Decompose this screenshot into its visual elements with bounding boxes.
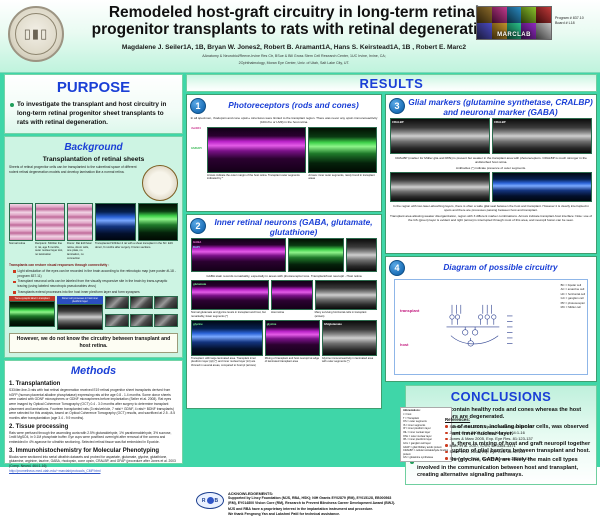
- panel-2-caption-2: Normal glutamate and glycine levels in t…: [191, 311, 269, 318]
- micrograph-transplant-green-right: [138, 203, 179, 241]
- methods-protocol-link[interactable]: http://prometheus.med.utah.edu/~marclab/…: [9, 469, 178, 474]
- panel-3-caption-2: Antibodies (*) indicate presence of oute…: [389, 166, 593, 170]
- program-info: Program # 837.10 Board # L18: [555, 16, 597, 27]
- background-figure-row-1: Normal retina Recipient: S334ter line 3,…: [9, 203, 178, 260]
- methods-1-body: S334ter-line-3 rats with fast retinal de…: [9, 388, 178, 421]
- panel-number-4: 4: [389, 260, 405, 276]
- fig-tag-dapi: DAPI: [193, 245, 200, 249]
- micrograph-rhodopsin-transplant: [207, 127, 306, 173]
- rpb-logo-icon: RB: [196, 492, 224, 509]
- connectivity-bullet-3: Transplants extend processes into the ho…: [18, 290, 140, 295]
- methods-3-heading: 3. Immunohistochemistry for Molecular Ph…: [9, 448, 178, 454]
- methods-section: Methods 1. Transplantation S334ter-line-…: [4, 360, 183, 464]
- fig-tag-gaba: GABA: [193, 240, 201, 244]
- micrograph-donor-processes: [57, 304, 103, 330]
- panel-number-3: 3: [389, 98, 405, 114]
- results-panel-3: 3 Glial markers (glutamine synthetase, C…: [385, 94, 597, 254]
- panel-2-caption-6: Mixing of transplant and host neuropil a…: [265, 357, 320, 364]
- title-line-1: Remodeled host-graft circuitry in long-t…: [72, 4, 516, 21]
- panel-2-caption-7: Glycine immunoreactivity in laminated ar…: [322, 357, 377, 364]
- micrograph-glutamate-1: [288, 238, 344, 272]
- background-heading: Background: [9, 142, 178, 153]
- micrograph-gaba-dapi: GABA DAPI: [191, 238, 286, 272]
- em-micrograph-6: [154, 314, 178, 327]
- page-title: Remodeled host-graft circuitry in long-t…: [72, 4, 516, 39]
- connectivity-bullet-1: Light stimulation of the eyes can be rec…: [18, 269, 179, 278]
- acknowledgements-line-1: Supported by Lincy Foundation (MJS, RBA,…: [228, 496, 396, 507]
- circuitry-svg: [441, 282, 551, 374]
- panel-2-caption-5: Transplant: with large laminated area. T…: [191, 357, 263, 368]
- panel-2-title: Inner retinal neurons (GABA, glutamate, …: [208, 217, 379, 237]
- marclab-logo: MARCLAB: [476, 6, 552, 40]
- fig-tag-glycine-1: glycine: [193, 322, 203, 326]
- background-intro: Sheets of retinal progenitor cells can b…: [9, 165, 139, 174]
- abbrev-item-12: GS = glutamine synthetase: [403, 456, 449, 460]
- diagram-label-transplant: transplant: [400, 308, 419, 313]
- panel-2-caption-1: GABA stain records remarkably, especiall…: [190, 274, 378, 278]
- fig-tag-cralbp-1: CRALBP: [392, 120, 404, 124]
- panel-1-caption-left: Arrows indicate the outer margin of the …: [207, 174, 306, 181]
- fig-tag-gs-glutamate: GS/glutamate: [324, 322, 342, 326]
- acknowledgements-section: RB ACKNOWLEDGEMENTS: Supported by Lincy …: [196, 492, 396, 517]
- legend-item-mc: MC = Müller cell: [561, 305, 585, 309]
- panel-2-caption-3: Host retina: [271, 311, 313, 315]
- micrograph-donor-retina: [67, 203, 93, 241]
- panel-number-2: 2: [190, 218, 206, 234]
- micrograph-neuropil-mixing: glycine: [265, 320, 320, 356]
- micrograph-glial-seal: [390, 172, 490, 202]
- abbrev-item-11: CRALBP = cellular retinaldehyde binding …: [403, 449, 449, 456]
- micrograph-recipient-retina: [35, 203, 65, 241]
- panel-number-1: 1: [190, 98, 206, 114]
- connectivity-bullet-2: Transplant neuronal cells can be labeled…: [18, 279, 179, 288]
- results-panel-1: 1 Photoreceptors (rods and cones) In all…: [186, 94, 382, 212]
- fig-tag-glycine-2: glycine: [267, 322, 277, 326]
- left-column: PURPOSE To investigate the transplant an…: [4, 74, 183, 464]
- micrograph-cone-opsin: [308, 127, 377, 173]
- panel-3-caption-1: CRALBP (marker for Müller glia and RPE) …: [389, 156, 593, 165]
- panel-1-caption-right: Arrows: inner outer segments, rarely fou…: [308, 174, 377, 181]
- bullet-icon: [445, 432, 448, 435]
- bullet-icon: [13, 270, 16, 273]
- eye-schematic-figure: [142, 165, 178, 201]
- fig-tag-cralbp-2: CRALBP: [494, 120, 506, 124]
- background-subheading: Transplantation of retinal sheets: [9, 156, 178, 163]
- methods-2-body: Rats were perfused through the ascending…: [9, 431, 178, 445]
- em-micrograph-4: [105, 314, 129, 327]
- marclab-label: MARCLAB: [477, 32, 551, 38]
- bullet-icon: [13, 281, 16, 284]
- affiliation-line-1: AAnatomy & Neurobiol/Reeve-Irvine Res Ct…: [72, 54, 516, 59]
- fig-label-recipient: Recipient: S334ter line 3, rat, age 8 mo…: [35, 242, 65, 257]
- micrograph-host-retina-1: [346, 238, 377, 272]
- fig-tag-rho-1d4: rho/1D4: [191, 127, 205, 131]
- conclusions-heading: CONCLUSIONS: [410, 389, 592, 404]
- reference-item-6: Seiler et al. 2008, Eur J. Neurosci. 28:…: [450, 456, 532, 462]
- panel-3-caption-3: In the region with two laser-absorbing l…: [389, 204, 593, 213]
- panel-4-title: Diagram of possible circuitry: [407, 259, 594, 276]
- bullet-icon: [10, 103, 14, 107]
- affiliation-line-2: 2Ophthalmology, Moran Eye Center, Univ. …: [72, 61, 516, 66]
- methods-heading: Methods: [9, 365, 178, 377]
- acknowledgements-line-3: We thank Fengrong Yan and Lakshmi Patil …: [228, 512, 396, 517]
- diagram-label-host: host: [400, 342, 408, 347]
- connectivity-heading: Transplants can restore visual responses…: [9, 263, 178, 268]
- bullet-icon: [445, 444, 448, 447]
- title-line-2: progenitor transplants to rats with reti…: [72, 21, 516, 38]
- micrograph-host-retina-2: [271, 280, 313, 310]
- micrograph-cralbp-1: CRALBP: [390, 118, 490, 154]
- references-box: References: Strettoi et al. 2003, Vision…: [445, 416, 595, 462]
- methods-2-heading: 2. Tissue processing: [9, 424, 178, 430]
- results-panel-2: 2 Inner retinal neurons (GABA, glutamate…: [186, 214, 382, 409]
- poster-root: ▯▮▯ Remodeled host-graft circuitry in lo…: [0, 0, 600, 467]
- university-seal-icon: ▯▮▯: [8, 6, 64, 62]
- micrograph-horizontal-cells: [315, 280, 377, 310]
- fig-label-donor: Donor: Rat E19 fetal retina, donor cells…: [67, 242, 93, 260]
- bullet-icon: [445, 457, 448, 460]
- micrograph-laminated-transplant: glycine: [191, 320, 263, 356]
- title-block: Remodeled host-graft circuitry in long-t…: [72, 4, 516, 67]
- micrograph-gaba-gs: [492, 172, 592, 202]
- bullet-icon: [13, 291, 16, 294]
- bullet-icon: [445, 451, 448, 454]
- board-number: Board # L18: [555, 21, 597, 26]
- micrograph-trans-synaptic-label: [9, 301, 55, 327]
- purpose-bullet-text: To investigate the transplant and host c…: [17, 100, 177, 127]
- fig-tag-gs-dapi: GS/DAPI: [191, 147, 205, 151]
- fig-caption-oct: Transplanted S334ter-3 rat with a sheet …: [95, 242, 178, 249]
- em-micrograph-5: [130, 314, 154, 327]
- fig-tag-glutamate: glutamate: [193, 282, 206, 286]
- panel-3-title: Glial markers (glutamine synthetase, CRA…: [407, 97, 594, 117]
- fig-tag-donor-processes: Donor cell processes in host inner plexi…: [57, 296, 103, 304]
- references-heading: References:: [445, 416, 595, 423]
- em-micrograph-3: [154, 296, 178, 309]
- fig-label-normal: Normal retina: [9, 242, 33, 246]
- panel-1-caption: In all specimen, rhodopsin and cone opsi…: [190, 116, 378, 125]
- purpose-section: PURPOSE To investigate the transplant an…: [4, 74, 183, 134]
- methods-1-heading: 1. Transplantation: [9, 381, 178, 387]
- micrograph-transplant-blue-left: [95, 203, 136, 241]
- em-micrograph-1: [105, 296, 129, 309]
- circuitry-diagram: transplant host: [394, 279, 588, 375]
- results-heading: RESULTS: [360, 76, 424, 91]
- micrograph-glycine-outer-segments: GS/glutamate: [322, 320, 377, 356]
- background-note: However, we do not know the circuitry be…: [9, 333, 178, 353]
- diagram-legend: BC = bipolar cell AC = amacrine cell HC …: [561, 283, 585, 310]
- panel-3-caption-4: Transplant area allowing weaker disorgan…: [389, 214, 593, 223]
- bullet-icon: [445, 425, 448, 428]
- panel-2-caption-4: Many surviving horizontal cells in trans…: [315, 311, 377, 318]
- micrograph-cralbp-2: CRALBP: [492, 118, 592, 154]
- background-section: Background Transplantation of retinal sh…: [4, 136, 183, 358]
- results-panel-4: 4 Diagram of possible circuitry transpla…: [385, 256, 597, 382]
- em-micrograph-2: [130, 296, 154, 309]
- micrograph-normal-retina: [9, 203, 33, 241]
- micrograph-glutamate-glycine: glutamate: [191, 280, 269, 310]
- right-column: RESULTS 1 Photoreceptors (rods and cones…: [186, 74, 597, 464]
- results-heading-bar: RESULTS: [186, 74, 597, 92]
- acknowledgements-line-2: MJS and RBA have a proprietary interest …: [228, 507, 396, 512]
- bullet-icon: [445, 438, 448, 441]
- panel-1-title: Photoreceptors (rods and cones): [208, 97, 379, 114]
- author-list: Magdalene J. Seiler1A, 1B, Bryan W. Jone…: [72, 44, 516, 53]
- poster-header: ▯▮▯ Remodeled host-graft circuitry in lo…: [0, 0, 600, 73]
- purpose-heading: PURPOSE: [10, 79, 177, 96]
